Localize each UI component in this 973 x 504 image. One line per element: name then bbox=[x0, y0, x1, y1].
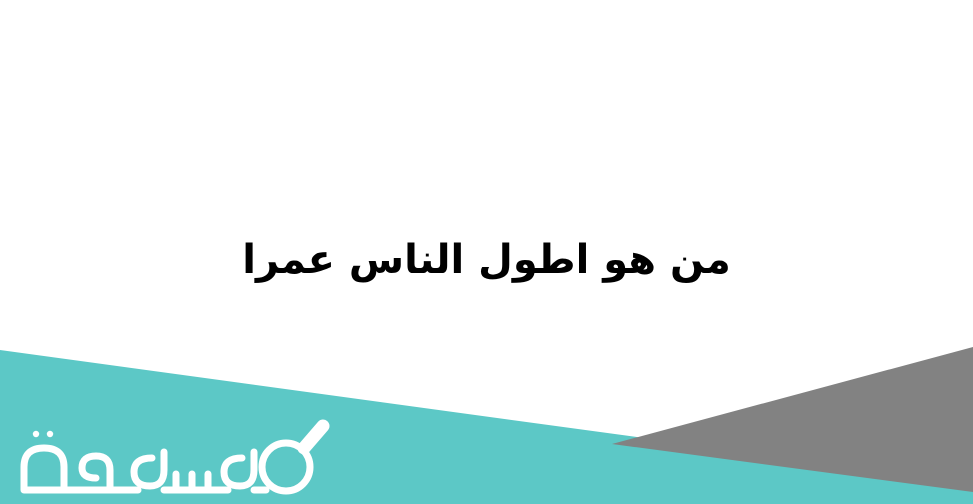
brand-wordmark-strokes bbox=[24, 431, 266, 490]
poster-canvas: من هو اطول الناس عمرا bbox=[0, 0, 973, 504]
glyph-waw-1 bbox=[134, 452, 164, 486]
glyph-dot-right bbox=[47, 431, 53, 437]
glyph-ta-marbuta bbox=[24, 448, 64, 490]
magnifier-handle-icon bbox=[304, 426, 323, 448]
glyph-ain bbox=[64, 456, 110, 490]
glyph-waw-2 bbox=[224, 452, 254, 486]
glyph-seen bbox=[164, 474, 210, 490]
glyph-dot-left bbox=[33, 431, 39, 437]
brand-logo[interactable] bbox=[14, 412, 334, 502]
